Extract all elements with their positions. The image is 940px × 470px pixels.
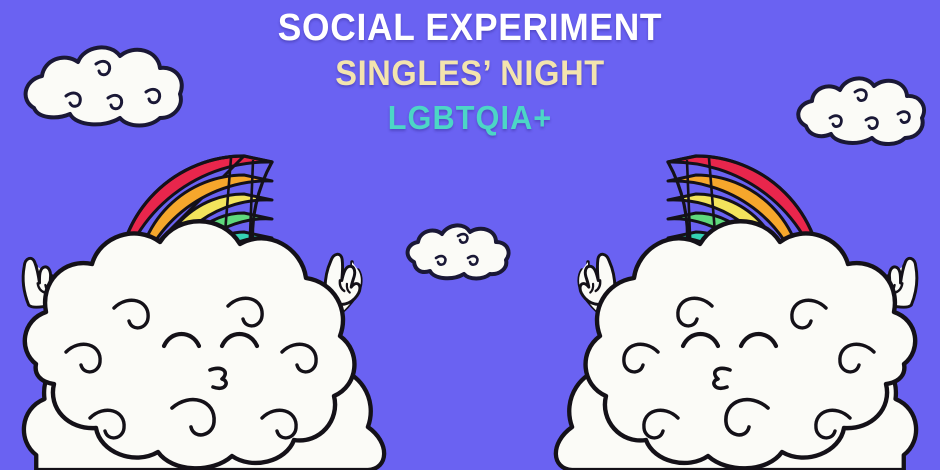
poster-canvas: SOCIAL EXPERIMENT SINGLES’ NIGHT LGBTQIA…	[0, 0, 940, 470]
cloud-top-right	[798, 78, 924, 144]
poster-artwork	[0, 0, 940, 470]
cloud-center	[408, 225, 509, 278]
